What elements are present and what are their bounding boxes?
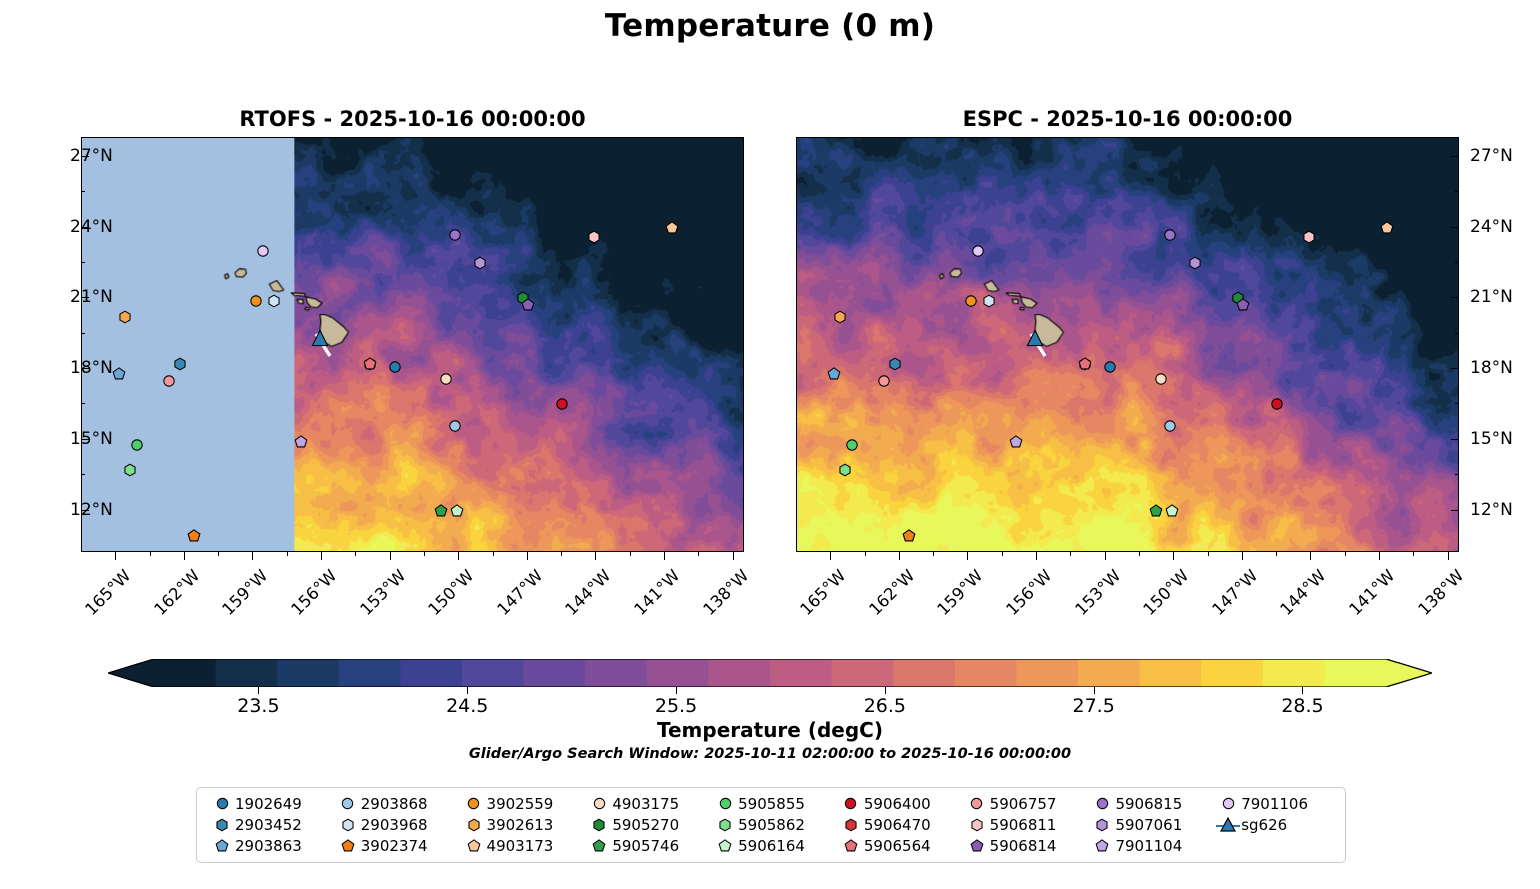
legend-label-3902559: 3902559 — [487, 795, 554, 813]
legend-marker-5906470 — [838, 818, 864, 832]
colorbar-swatch — [832, 659, 894, 687]
legend-marker-5905855 — [712, 797, 738, 810]
x-tick-minor — [1139, 552, 1140, 556]
x-tick-label: 153°W — [356, 566, 409, 619]
x-tick-minor — [355, 552, 356, 556]
y-tick-label: 12°N — [1470, 500, 1513, 520]
legend-item-2903452[interactable]: 2903452 — [205, 815, 331, 834]
y-tick — [1451, 439, 1459, 440]
x-tick — [595, 552, 596, 560]
legend-item-5906811[interactable]: 5906811 — [960, 815, 1086, 834]
x-tick-minor — [1345, 552, 1346, 556]
temperature-field-rtofs — [82, 138, 743, 551]
x-tick-label: 156°W — [287, 566, 340, 619]
platform-marker-2903452[interactable] — [888, 357, 902, 371]
colorbar-tick — [258, 687, 259, 694]
y-tick-minor — [1455, 403, 1459, 404]
platform-marker-2903868[interactable] — [1163, 419, 1176, 432]
figure-title: Temperature (0 m) — [0, 8, 1540, 44]
x-tick-label: 153°W — [1071, 566, 1124, 619]
x-tick — [184, 552, 185, 560]
platform-marker-5906811[interactable] — [1302, 230, 1316, 244]
platform-marker-5905855[interactable] — [130, 438, 143, 451]
platform-marker-2903968[interactable] — [267, 294, 281, 308]
map-frame-rtofs[interactable] — [81, 137, 744, 552]
x-tick-minor — [630, 552, 631, 556]
y-tick — [1451, 297, 1459, 298]
legend-label-5906564: 5906564 — [864, 837, 931, 855]
platform-marker-5906400[interactable] — [1271, 398, 1284, 411]
colorbar-tick — [467, 687, 468, 694]
platform-marker-5906564[interactable] — [1078, 357, 1092, 371]
x-tick-label: 141°W — [630, 566, 683, 619]
x-tick-label: 138°W — [1414, 566, 1467, 619]
x-tick-minor — [1002, 552, 1003, 556]
colorbar-tick-label: 23.5 — [237, 695, 279, 717]
legend-label-5906815: 5906815 — [1115, 795, 1182, 813]
y-tick-label: 15°N — [1470, 429, 1513, 449]
platform-marker-3902613[interactable] — [118, 310, 132, 324]
platform-marker-4903175[interactable] — [1154, 372, 1167, 385]
platform-marker-5905746[interactable] — [1149, 504, 1163, 518]
legend-item-5905855[interactable]: 5905855 — [708, 794, 834, 813]
legend-item-5905746[interactable]: 5905746 — [582, 836, 708, 855]
platform-marker-1902649[interactable] — [389, 360, 402, 373]
legend-marker-3902559 — [461, 797, 487, 810]
legend-item-5906814[interactable]: 5906814 — [960, 836, 1086, 855]
x-tick — [1242, 552, 1243, 560]
legend-marker-5907061 — [1089, 818, 1115, 832]
x-tick — [1379, 552, 1380, 560]
legend-marker-4903173 — [461, 839, 487, 853]
y-tick-minor — [1455, 333, 1459, 334]
glider-marker-sg626[interactable] — [1026, 330, 1043, 347]
x-tick — [664, 552, 665, 560]
colorbar-swatch — [277, 659, 339, 687]
legend-marker-5906815 — [1089, 797, 1115, 810]
x-tick-label: 159°W — [219, 566, 272, 619]
legend-label-2903452: 2903452 — [235, 816, 302, 834]
legend-item-3902374[interactable]: 3902374 — [331, 836, 457, 855]
legend-marker-7901104 — [1089, 839, 1115, 853]
x-tick-label: 159°W — [934, 566, 987, 619]
platform-legend: 1902649290345229038632903868290396839023… — [196, 787, 1346, 863]
platform-marker-5906815[interactable] — [1163, 228, 1176, 241]
legend-label-4903175: 4903175 — [612, 795, 679, 813]
x-tick-label: 150°W — [425, 566, 478, 619]
legend-label-2903863: 2903863 — [235, 837, 302, 855]
x-tick-label: 147°W — [493, 566, 546, 619]
colorbar-tick-label: 28.5 — [1281, 695, 1323, 717]
colorbar-swatch — [1263, 659, 1325, 687]
platform-marker-7901104[interactable] — [294, 435, 308, 449]
x-tick — [115, 552, 116, 560]
legend-marker-1902649 — [209, 797, 235, 810]
legend-label-5907061: 5907061 — [1115, 816, 1182, 834]
legend-grid: 1902649290345229038632903868290396839023… — [205, 794, 1337, 855]
legend-label-5905746: 5905746 — [612, 837, 679, 855]
legend-marker-2903863 — [209, 839, 235, 853]
platform-marker-7901106[interactable] — [971, 245, 984, 258]
legend-item-5905862[interactable]: 5905862 — [708, 815, 834, 834]
platform-marker-5906564[interactable] — [363, 357, 377, 371]
legend-item-5907061[interactable]: 5907061 — [1085, 815, 1211, 834]
platform-marker-5905855[interactable] — [845, 438, 858, 451]
colorbar-extend-min — [108, 659, 154, 687]
search-window-caption: Glider/Argo Search Window: 2025-10-11 02… — [0, 746, 1540, 762]
x-tick — [899, 552, 900, 560]
platform-marker-2903863[interactable] — [112, 367, 126, 381]
platform-marker-5907061[interactable] — [1188, 256, 1202, 270]
platform-marker-5906757[interactable] — [877, 374, 890, 387]
x-tick-minor — [561, 552, 562, 556]
legend-label-5906470: 5906470 — [864, 816, 931, 834]
x-tick — [830, 552, 831, 560]
legend-label-5905270: 5905270 — [612, 816, 679, 834]
y-tick-label: 27°N — [1470, 146, 1513, 166]
colorbar-swatch — [400, 659, 462, 687]
y-tick-minor — [1455, 474, 1459, 475]
legend-item-5906164[interactable]: 5906164 — [708, 836, 834, 855]
colorbar-swatch — [1201, 659, 1263, 687]
platform-marker-5906815[interactable] — [448, 228, 461, 241]
legend-marker-5905746 — [586, 839, 612, 853]
x-tick — [1448, 552, 1449, 560]
colorbar-tick — [676, 687, 677, 694]
colorbar-swatch — [1078, 659, 1140, 687]
x-tick — [1105, 552, 1106, 560]
legend-marker-5906814 — [964, 839, 990, 853]
y-tick-minor — [81, 191, 85, 192]
colorbar-tick-label: 26.5 — [864, 695, 906, 717]
platform-marker-3902374[interactable] — [187, 529, 201, 543]
legend-item-4903175[interactable]: 4903175 — [582, 794, 708, 813]
x-tick — [527, 552, 528, 560]
colorbar-swatch — [1016, 659, 1078, 687]
legend-item-7901106[interactable]: 7901106 — [1211, 794, 1337, 813]
panel-title-rtofs: RTOFS - 2025-10-16 00:00:00 — [81, 107, 744, 131]
map-panel-espc: ESPC - 2025-10-16 00:00:00 165°W162°W159… — [796, 137, 1459, 552]
colorbar-swatch — [893, 659, 955, 687]
platform-marker-2903968[interactable] — [982, 294, 996, 308]
colorbar-swatch — [154, 659, 216, 687]
x-tick-label: 144°W — [562, 566, 615, 619]
legend-item-sg626[interactable]: sg626 — [1211, 815, 1337, 834]
legend-marker-5906400 — [838, 797, 864, 810]
temperature-field-espc — [797, 138, 1458, 551]
x-tick-label: 156°W — [1002, 566, 1055, 619]
legend-label-5906814: 5906814 — [990, 837, 1057, 855]
x-tick — [390, 552, 391, 560]
legend-label-5906400: 5906400 — [864, 795, 931, 813]
platform-marker-5905862[interactable] — [123, 463, 137, 477]
legend-marker-5905270 — [586, 818, 612, 832]
x-tick-minor — [933, 552, 934, 556]
colorbar-swatch — [462, 659, 524, 687]
x-tick-label: 141°W — [1345, 566, 1398, 619]
legend-marker-5906757 — [964, 797, 990, 810]
colorbar-swatch — [216, 659, 278, 687]
x-tick-minor — [1276, 552, 1277, 556]
colorbar-tick — [1302, 687, 1303, 694]
platform-marker-1902649[interactable] — [1104, 360, 1117, 373]
x-tick-label: 162°W — [865, 566, 918, 619]
x-tick-minor — [218, 552, 219, 556]
platform-marker-3902559[interactable] — [249, 294, 262, 307]
legend-label-4903173: 4903173 — [487, 837, 554, 855]
platform-marker-3902613[interactable] — [833, 310, 847, 324]
legend-item-4903173[interactable]: 4903173 — [457, 836, 583, 855]
map-frame-espc[interactable] — [796, 137, 1459, 552]
x-tick — [1173, 552, 1174, 560]
colorbar-tick-label: 27.5 — [1073, 695, 1115, 717]
legend-item-2903863[interactable]: 2903863 — [205, 836, 331, 855]
platform-marker-5906814[interactable] — [1236, 298, 1250, 312]
platform-marker-3902559[interactable] — [964, 294, 977, 307]
x-tick-minor — [1208, 552, 1209, 556]
platform-marker-3902374[interactable] — [902, 529, 916, 543]
x-tick-minor — [698, 552, 699, 556]
platform-marker-2903868[interactable] — [448, 419, 461, 432]
legend-label-7901104: 7901104 — [1115, 837, 1182, 855]
x-tick-label: 144°W — [1277, 566, 1330, 619]
colorbar-swatch — [770, 659, 832, 687]
legend-item-5906564[interactable]: 5906564 — [834, 836, 960, 855]
x-tick — [252, 552, 253, 560]
legend-item-5906757[interactable]: 5906757 — [960, 794, 1086, 813]
platform-marker-5906164[interactable] — [1165, 504, 1179, 518]
legend-item-1902649[interactable]: 1902649 — [205, 794, 331, 813]
y-tick — [1451, 227, 1459, 228]
platform-marker-4903173[interactable] — [665, 221, 679, 235]
legend-marker-7901106 — [1215, 797, 1241, 810]
legend-label-3902613: 3902613 — [487, 816, 554, 834]
legend-label-5905862: 5905862 — [738, 816, 805, 834]
y-tick-minor — [81, 262, 85, 263]
legend-item-7901104[interactable]: 7901104 — [1085, 836, 1211, 855]
platform-marker-7901106[interactable] — [256, 245, 269, 258]
legend-item-3902559[interactable]: 3902559 — [457, 794, 583, 813]
y-tick — [1451, 510, 1459, 511]
x-tick-label: 165°W — [82, 566, 135, 619]
y-tick-minor — [1455, 262, 1459, 263]
x-tick-label: 138°W — [699, 566, 752, 619]
x-tick-minor — [424, 552, 425, 556]
colorbar-swatch — [524, 659, 586, 687]
y-tick — [1451, 368, 1459, 369]
x-tick-label: 150°W — [1140, 566, 1193, 619]
platform-marker-5906757[interactable] — [162, 374, 175, 387]
panel-title-espc: ESPC - 2025-10-16 00:00:00 — [796, 107, 1459, 131]
legend-marker-2903452 — [209, 818, 235, 832]
x-tick — [733, 552, 734, 560]
legend-label-1902649: 1902649 — [235, 795, 302, 813]
colorbar-tick-label: 24.5 — [446, 695, 488, 717]
colorbar-title: Temperature (degC) — [0, 718, 1540, 742]
platform-marker-5906400[interactable] — [556, 398, 569, 411]
platform-marker-5906164[interactable] — [450, 504, 464, 518]
legend-marker-5906811 — [964, 818, 990, 832]
colorbar-swatch — [339, 659, 401, 687]
legend-marker-2903868 — [335, 797, 361, 810]
x-tick-label: 165°W — [797, 566, 850, 619]
platform-marker-2903863[interactable] — [827, 367, 841, 381]
platform-marker-5905746[interactable] — [434, 504, 448, 518]
legend-item-2903968[interactable]: 2903968 — [331, 815, 457, 834]
legend-item-2903868[interactable]: 2903868 — [331, 794, 457, 813]
platform-marker-4903175[interactable] — [439, 372, 452, 385]
y-tick-minor — [81, 403, 85, 404]
colorbar-gradient — [108, 659, 1432, 687]
y-tick-label: 24°N — [1470, 217, 1513, 237]
platform-marker-5906814[interactable] — [521, 298, 535, 312]
legend-marker-3902374 — [335, 839, 361, 853]
legend-item-5905270[interactable]: 5905270 — [582, 815, 708, 834]
x-tick — [967, 552, 968, 560]
x-tick-minor — [287, 552, 288, 556]
colorbar-tick — [885, 687, 886, 694]
y-tick — [1451, 156, 1459, 157]
legend-label-5906164: 5906164 — [738, 837, 805, 855]
legend-marker-5906164 — [712, 839, 738, 853]
legend-label-5906811: 5906811 — [990, 816, 1057, 834]
x-tick-minor — [1070, 552, 1071, 556]
legend-marker-3902613 — [461, 818, 487, 832]
glider-marker-sg626[interactable] — [311, 330, 328, 347]
legend-marker-2903968 — [335, 818, 361, 832]
colorbar-swatch — [647, 659, 709, 687]
colorbar-swatch — [955, 659, 1017, 687]
x-tick-minor — [493, 552, 494, 556]
legend-marker-4903175 — [586, 797, 612, 810]
platform-marker-5905862[interactable] — [838, 463, 852, 477]
x-tick-minor — [1413, 552, 1414, 556]
x-tick — [1310, 552, 1311, 560]
x-tick-minor — [150, 552, 151, 556]
colorbar: 23.524.525.526.527.528.5 — [108, 659, 1432, 687]
y-tick-minor — [81, 333, 85, 334]
x-tick — [321, 552, 322, 560]
y-tick-minor — [81, 474, 85, 475]
legend-item-5906815[interactable]: 5906815 — [1085, 794, 1211, 813]
x-tick-minor — [865, 552, 866, 556]
map-panel-rtofs: RTOFS - 2025-10-16 00:00:00 165°W162°W15… — [81, 137, 744, 552]
legend-label-7901106: 7901106 — [1241, 795, 1308, 813]
platform-marker-4903173[interactable] — [1380, 221, 1394, 235]
legend-marker-5905862 — [712, 818, 738, 832]
colorbar-tick — [1094, 687, 1095, 694]
legend-label-3902374: 3902374 — [361, 837, 428, 855]
legend-label-5905855: 5905855 — [738, 795, 805, 813]
y-tick-label: 21°N — [1470, 287, 1513, 307]
platform-marker-5907061[interactable] — [473, 256, 487, 270]
x-tick-label: 162°W — [150, 566, 203, 619]
colorbar-swatch — [708, 659, 770, 687]
legend-item-3902613[interactable]: 3902613 — [457, 815, 583, 834]
colorbar-swatch — [585, 659, 647, 687]
legend-item-5906470[interactable]: 5906470 — [834, 815, 960, 834]
legend-label-2903868: 2903868 — [361, 795, 428, 813]
x-tick — [458, 552, 459, 560]
x-tick-label: 147°W — [1208, 566, 1261, 619]
y-tick-minor — [1455, 191, 1459, 192]
legend-label-5906757: 5906757 — [990, 795, 1057, 813]
legend-marker-5906564 — [838, 839, 864, 853]
colorbar-swatch — [1324, 659, 1386, 687]
colorbar-swatch — [1140, 659, 1202, 687]
colorbar-extend-max — [1386, 659, 1432, 687]
legend-item-5906400[interactable]: 5906400 — [834, 794, 960, 813]
legend-label-2903968: 2903968 — [361, 816, 428, 834]
y-tick-label: 18°N — [1470, 358, 1513, 378]
platform-marker-7901104[interactable] — [1009, 435, 1023, 449]
legend-marker-sg626 — [1215, 817, 1241, 832]
x-tick — [1036, 552, 1037, 560]
platform-marker-5906811[interactable] — [587, 230, 601, 244]
platform-marker-2903452[interactable] — [173, 357, 187, 371]
legend-label-sg626: sg626 — [1241, 816, 1287, 834]
colorbar-tick-label: 25.5 — [655, 695, 697, 717]
